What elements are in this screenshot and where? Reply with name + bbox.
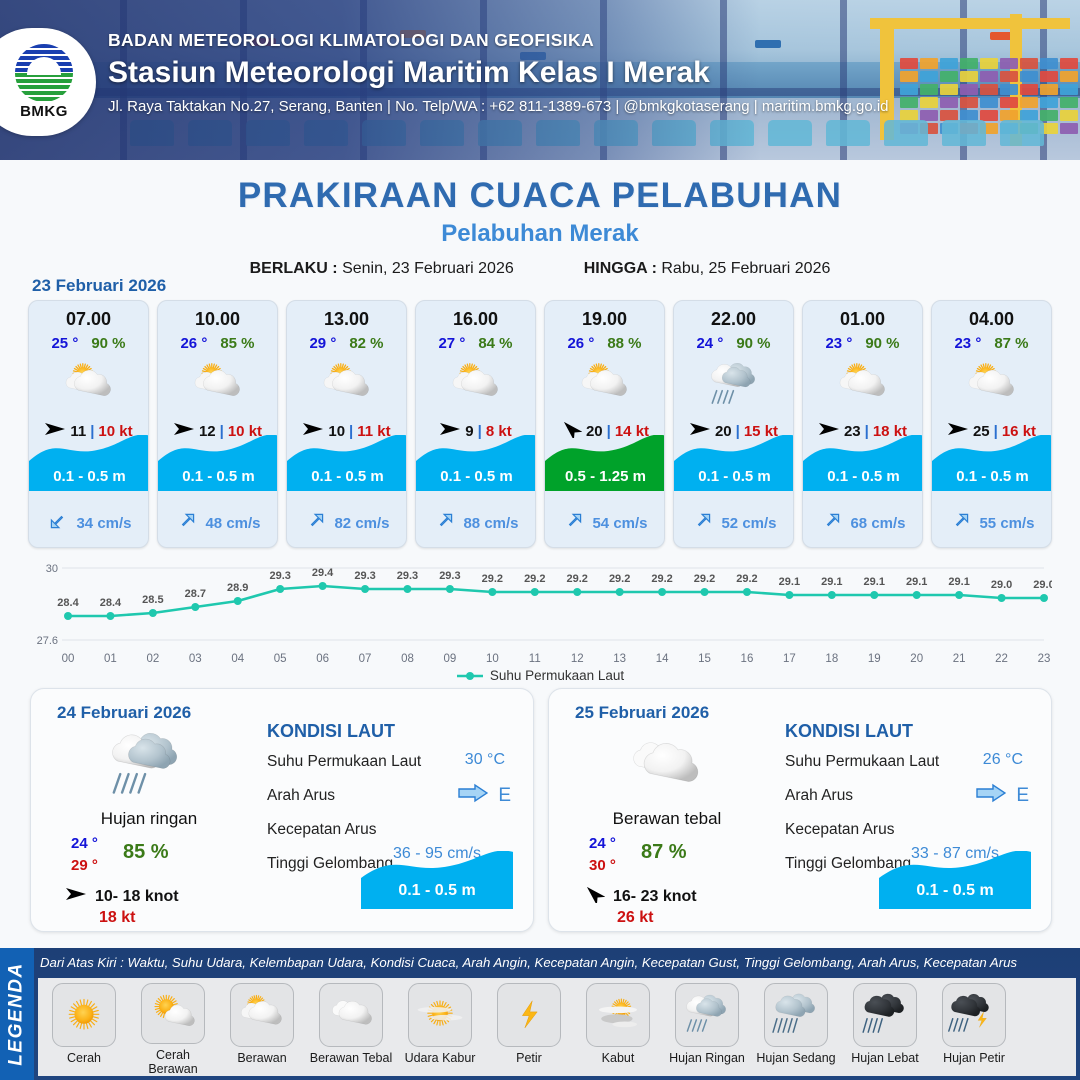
page-header: BMKG BADAN METEOROLOGI KLIMATOLOGI DAN G… <box>0 0 1080 160</box>
current-direction-value: E <box>498 785 511 807</box>
agency-name: BADAN METEOROLOGI KLIMATOLOGI DAN GEOFIS… <box>108 30 889 51</box>
svg-text:29.0: 29.0 <box>1033 579 1052 591</box>
card-temp-humidity-row: 25 °90 % <box>29 335 148 352</box>
svg-text:03: 03 <box>189 653 202 665</box>
header-container-icon <box>1000 97 1018 108</box>
legend-item-label: Cerah Berawan <box>131 1048 215 1076</box>
svg-text:27.6: 27.6 <box>37 635 58 647</box>
legend-side-title: LEGENDA <box>0 948 34 1080</box>
legend-hujan-sedang-icon <box>764 983 828 1047</box>
svg-text:08: 08 <box>401 653 414 665</box>
current-direction-arrow-icon <box>458 783 488 808</box>
svg-text:02: 02 <box>146 653 159 665</box>
day-wind-speed-range: 16- 23 knot <box>613 888 697 906</box>
header-container-icon <box>960 71 978 82</box>
legend-item-label: Udara Kabur <box>405 1051 476 1065</box>
header-container-icon <box>1020 97 1038 108</box>
current-direction-arrow-icon <box>976 783 1006 808</box>
day-wind-row: 10- 18 knot <box>65 885 179 908</box>
svg-text:21: 21 <box>953 653 966 665</box>
header-container-icon <box>940 97 958 108</box>
header-container-icon <box>900 84 918 95</box>
card-current-row: 68 cm/s <box>803 510 923 537</box>
forecast-card[interactable]: 10.0026 °85 %12|10 kt0.1 - 0.5 m48 cm/s <box>157 300 278 548</box>
header-container-icon <box>1060 110 1078 121</box>
sst-label: Suhu Permukaan Laut <box>785 753 939 771</box>
svg-text:30: 30 <box>46 563 58 575</box>
card-temperature: 29 ° <box>309 335 336 352</box>
card-temp-humidity-row: 23 °90 % <box>803 335 922 352</box>
header-container-icon <box>1020 58 1038 69</box>
card-temperature: 23 ° <box>954 335 981 352</box>
header-container-icon <box>1040 97 1058 108</box>
svg-text:16: 16 <box>741 653 754 665</box>
legend-item-label: Petir <box>516 1051 542 1065</box>
card-humidity: 90 % <box>91 335 125 352</box>
header-container-icon <box>1020 71 1038 82</box>
page-subtitle: Pelabuhan Merak <box>0 220 1080 248</box>
legend-item: Berawan <box>220 983 304 1076</box>
header-container-icon <box>960 58 978 69</box>
header-container-icon <box>1000 58 1018 69</box>
svg-text:15: 15 <box>698 653 711 665</box>
current-direction-row: E <box>976 783 1029 808</box>
svg-text:29.1: 29.1 <box>821 576 842 588</box>
legend-hujan-ringan-icon <box>675 983 739 1047</box>
header-container-icon <box>1040 84 1058 95</box>
card-temperature: 26 ° <box>567 335 594 352</box>
card-humidity: 87 % <box>994 335 1028 352</box>
wind-direction-arrow-icon <box>583 885 605 908</box>
day-date: 25 Februari 2026 <box>575 703 709 723</box>
day-temp-max: 30 ° <box>589 857 616 874</box>
current-direction-label: Arah Arus <box>785 787 853 805</box>
legend-item-label: Hujan Petir <box>943 1051 1005 1065</box>
day-wind-speed-range: 10- 18 knot <box>95 888 179 906</box>
header-seat-icon <box>768 120 812 146</box>
card-current-row: 52 cm/s <box>674 510 794 537</box>
card-temperature: 26 ° <box>180 335 207 352</box>
svg-text:29.3: 29.3 <box>354 570 375 582</box>
header-container-icon <box>920 84 938 95</box>
legend-item: Hujan Lebat <box>843 983 927 1076</box>
card-time: 22.00 <box>674 309 793 330</box>
bmkg-logo-emblem <box>15 44 73 102</box>
page-title: PRAKIRAAN CUACA PELABUHAN <box>0 176 1080 216</box>
legend-side-title-text: LEGENDA <box>6 962 28 1065</box>
berlaku-label: BERLAKU : <box>250 260 338 277</box>
hingga-value: Rabu, 25 Februari 2026 <box>661 260 830 277</box>
legend-item: Cerah Berawan <box>131 983 215 1076</box>
forecast-date-label: 23 Februari 2026 <box>32 276 166 296</box>
current-direction-row: E <box>458 783 511 808</box>
header-container-icon <box>980 58 998 69</box>
svg-text:29.1: 29.1 <box>779 576 800 588</box>
card-wave-height: 0.1 - 0.5 m <box>158 435 278 491</box>
day-humidity: 87 % <box>641 841 687 864</box>
card-time: 10.00 <box>158 309 277 330</box>
header-container-icon <box>920 97 938 108</box>
card-weather-icon <box>932 354 1051 416</box>
header-crane-boom <box>870 18 1070 29</box>
svg-text:29.2: 29.2 <box>482 573 503 585</box>
svg-text:01: 01 <box>104 653 117 665</box>
sst-label: Suhu Permukaan Laut <box>267 753 421 771</box>
card-weather-icon <box>803 354 922 416</box>
svg-text:23: 23 <box>1038 653 1051 665</box>
header-container-icon <box>1040 58 1058 69</box>
card-current-speed: 82 cm/s <box>334 515 389 532</box>
card-humidity: 85 % <box>220 335 254 352</box>
header-container-icon <box>980 84 998 95</box>
contact-line: Jl. Raya Taktakan No.27, Serang, Banten … <box>108 98 889 115</box>
card-weather-icon <box>29 354 148 416</box>
daily-forecast-panel[interactable]: 25 Februari 2026Berawan tebal24 °30 °87 … <box>548 688 1052 932</box>
card-wave-height: 0.1 - 0.5 m <box>416 435 536 491</box>
card-current-speed: 54 cm/s <box>592 515 647 532</box>
svg-text:29.1: 29.1 <box>906 576 927 588</box>
day-gust: 18 kt <box>99 909 135 927</box>
svg-text:29.2: 29.2 <box>651 573 672 585</box>
legend-berawan-icon <box>230 983 294 1047</box>
card-current-speed: 68 cm/s <box>850 515 905 532</box>
card-temp-humidity-row: 26 °88 % <box>545 335 664 352</box>
chart-legend: Suhu Permukaan Laut <box>0 668 1080 683</box>
header-container-icon <box>960 97 978 108</box>
day-condition: Berawan tebal <box>549 809 785 829</box>
svg-text:06: 06 <box>316 653 329 665</box>
card-current-row: 54 cm/s <box>545 510 665 537</box>
current-direction-arrow-icon <box>305 510 327 537</box>
svg-text:05: 05 <box>274 653 287 665</box>
card-wave-height: 0.1 - 0.5 m <box>803 435 923 491</box>
svg-text:29.4: 29.4 <box>312 567 334 579</box>
svg-text:29.3: 29.3 <box>269 570 290 582</box>
forecast-card-row: 07.0025 °90 %11|10 kt0.1 - 0.5 m34 cm/s1… <box>28 300 1052 548</box>
legend-item: Udara Kabur <box>398 983 482 1076</box>
legend-item: Hujan Ringan <box>665 983 749 1076</box>
legend-item: Cerah <box>42 983 126 1076</box>
card-temperature: 24 ° <box>696 335 723 352</box>
svg-text:12: 12 <box>571 653 584 665</box>
current-speed-label: Kecepatan Arus <box>785 821 894 839</box>
forecast-card[interactable]: 22.0024 °90 %20|15 kt0.1 - 0.5 m52 cm/s <box>673 300 794 548</box>
card-current-speed: 48 cm/s <box>205 515 260 532</box>
legend-icon-strip: CerahCerah BerawanBerawanBerawan TebalUd… <box>38 978 1076 1076</box>
day-gust: 26 kt <box>617 909 653 927</box>
svg-text:29.1: 29.1 <box>864 576 885 588</box>
current-direction-arrow-icon <box>434 510 456 537</box>
forecast-card[interactable]: 16.0027 °84 %9|8 kt0.1 - 0.5 m88 cm/s <box>415 300 536 548</box>
legend-item: Kabut <box>576 983 660 1076</box>
svg-text:18: 18 <box>825 653 838 665</box>
card-temp-humidity-row: 26 °85 % <box>158 335 277 352</box>
current-direction-arrow-icon <box>176 510 198 537</box>
card-current-speed: 55 cm/s <box>979 515 1034 532</box>
card-current-row: 88 cm/s <box>416 510 536 537</box>
svg-text:29.2: 29.2 <box>736 573 757 585</box>
sea-condition-header: KONDISI LAUT <box>785 721 913 742</box>
legend-item: Hujan Petir <box>932 983 1016 1076</box>
bmkg-logo-text: BMKG <box>14 103 74 120</box>
legend-item-label: Berawan Tebal <box>310 1051 392 1065</box>
legend-item: Petir <box>487 983 571 1076</box>
header-seat-icon <box>826 120 870 146</box>
card-time: 04.00 <box>932 309 1051 330</box>
legend-item-label: Hujan Sedang <box>756 1051 835 1065</box>
card-temperature: 27 ° <box>438 335 465 352</box>
card-humidity: 90 % <box>736 335 770 352</box>
legend-petir-icon <box>497 983 561 1047</box>
day-weather-icon <box>609 727 719 805</box>
legend-item-label: Hujan Lebat <box>851 1051 918 1065</box>
chart-legend-marker-icon <box>456 670 484 682</box>
header-container-icon <box>900 97 918 108</box>
card-current-speed: 52 cm/s <box>721 515 776 532</box>
header-container-icon <box>1040 71 1058 82</box>
header-container-icon <box>1000 84 1018 95</box>
card-time: 16.00 <box>416 309 535 330</box>
legend-item-label: Berawan <box>237 1051 286 1065</box>
sst-value: 30 °C <box>465 751 505 769</box>
day-humidity: 85 % <box>123 841 169 864</box>
svg-text:29.2: 29.2 <box>524 573 545 585</box>
card-time: 07.00 <box>29 309 148 330</box>
card-wave-height: 0.1 - 0.5 m <box>674 435 794 491</box>
wind-direction-arrow-icon <box>65 885 87 908</box>
legend-kabut-icon <box>586 983 650 1047</box>
card-current-row: 34 cm/s <box>29 510 149 537</box>
legend-cerah-icon <box>52 983 116 1047</box>
forecast-card[interactable]: 07.0025 °90 %11|10 kt0.1 - 0.5 m34 cm/s <box>28 300 149 548</box>
header-container-icon <box>1060 58 1078 69</box>
sea-condition-header: KONDISI LAUT <box>267 721 395 742</box>
svg-text:28.4: 28.4 <box>57 597 79 609</box>
card-wave-height: 0.1 - 0.5 m <box>287 435 407 491</box>
legend-cerah-berawan-icon <box>141 983 205 1044</box>
card-humidity: 84 % <box>478 335 512 352</box>
legend-item-label: Cerah <box>67 1051 101 1065</box>
current-direction-arrow-icon <box>821 510 843 537</box>
svg-text:09: 09 <box>444 653 457 665</box>
svg-text:04: 04 <box>231 653 244 665</box>
svg-text:17: 17 <box>783 653 796 665</box>
current-direction-value: E <box>1016 785 1029 807</box>
header-container-icon <box>1040 110 1058 121</box>
day-wave-height: 0.1 - 0.5 m <box>361 851 513 909</box>
svg-text:11: 11 <box>529 653 541 665</box>
legend-section: LEGENDA Dari Atas Kiri : Waktu, Suhu Uda… <box>0 948 1080 1080</box>
svg-text:07: 07 <box>359 653 372 665</box>
legend-udara-kabur-icon <box>408 983 472 1047</box>
card-temp-humidity-row: 23 °87 % <box>932 335 1051 352</box>
station-name: Stasiun Meteorologi Maritim Kelas I Mera… <box>108 56 889 90</box>
card-weather-icon <box>416 354 535 416</box>
svg-text:28.4: 28.4 <box>100 597 122 609</box>
svg-text:00: 00 <box>62 653 75 665</box>
header-container-icon <box>1000 71 1018 82</box>
current-speed-label: Kecepatan Arus <box>267 821 376 839</box>
sst-value: 26 °C <box>983 751 1023 769</box>
header-container-icon <box>900 71 918 82</box>
svg-text:29.3: 29.3 <box>397 570 418 582</box>
daily-forecast-row: 24 Februari 2026Hujan ringan24 °29 °85 %… <box>30 688 1052 932</box>
card-wave-height: 0.1 - 0.5 m <box>932 435 1052 491</box>
header-seat-icon <box>942 120 986 146</box>
card-weather-icon <box>545 354 664 416</box>
day-wave-height: 0.1 - 0.5 m <box>879 851 1031 909</box>
card-humidity: 88 % <box>607 335 641 352</box>
header-container-icon <box>1060 123 1078 134</box>
card-time: 01.00 <box>803 309 922 330</box>
card-temperature: 25 ° <box>51 335 78 352</box>
daily-forecast-panel[interactable]: 24 Februari 2026Hujan ringan24 °29 °85 %… <box>30 688 534 932</box>
svg-text:29.3: 29.3 <box>439 570 460 582</box>
card-time: 19.00 <box>545 309 664 330</box>
svg-text:29.2: 29.2 <box>609 573 630 585</box>
card-time: 13.00 <box>287 309 406 330</box>
header-container-icon <box>980 71 998 82</box>
legend-note: Dari Atas Kiri : Waktu, Suhu Udara, Kele… <box>40 955 1075 970</box>
day-condition: Hujan ringan <box>31 809 267 829</box>
svg-text:10: 10 <box>486 653 499 665</box>
day-wind-row: 16- 23 knot <box>583 885 697 908</box>
header-container-icon <box>1020 84 1038 95</box>
card-weather-icon <box>674 354 793 416</box>
forecast-card[interactable]: 04.0023 °87 %25|16 kt0.1 - 0.5 m55 cm/s <box>931 300 1052 548</box>
svg-text:28.7: 28.7 <box>185 588 206 600</box>
svg-text:22: 22 <box>995 653 1008 665</box>
svg-text:29.2: 29.2 <box>567 573 588 585</box>
legend-item: Hujan Sedang <box>754 983 838 1076</box>
card-temp-humidity-row: 29 °82 % <box>287 335 406 352</box>
card-weather-icon <box>158 354 277 416</box>
header-container-icon <box>900 58 918 69</box>
day-date: 24 Februari 2026 <box>57 703 191 723</box>
svg-text:28.5: 28.5 <box>142 594 163 606</box>
forecast-card[interactable]: 01.0023 °90 %23|18 kt0.1 - 0.5 m68 cm/s <box>802 300 923 548</box>
header-container-icon <box>940 58 958 69</box>
svg-text:20: 20 <box>910 653 923 665</box>
card-current-row: 82 cm/s <box>287 510 407 537</box>
legend-item-label: Hujan Ringan <box>669 1051 745 1065</box>
card-temp-humidity-row: 24 °90 % <box>674 335 793 352</box>
current-direction-label: Arah Arus <box>267 787 335 805</box>
card-temp-humidity-row: 27 °84 % <box>416 335 535 352</box>
current-direction-arrow-icon <box>47 510 69 537</box>
card-humidity: 82 % <box>349 335 383 352</box>
card-current-row: 55 cm/s <box>932 510 1052 537</box>
hingga-label: HINGGA : <box>584 260 657 277</box>
legend-hujan-petir-icon <box>942 983 1006 1047</box>
header-container-icon <box>940 84 958 95</box>
header-container-icon <box>980 97 998 108</box>
header-container-icon <box>1060 84 1078 95</box>
header-container-icon <box>940 71 958 82</box>
header-container-icon <box>1060 71 1078 82</box>
legend-item: Berawan Tebal <box>309 983 393 1076</box>
berlaku-value: Senin, 23 Februari 2026 <box>342 260 514 277</box>
svg-text:13: 13 <box>613 653 626 665</box>
header-seat-icon <box>884 120 928 146</box>
day-temp-min: 24 ° <box>589 835 616 852</box>
svg-text:19: 19 <box>868 653 881 665</box>
card-current-speed: 34 cm/s <box>76 515 131 532</box>
header-container-icon <box>1060 97 1078 108</box>
card-humidity: 90 % <box>865 335 899 352</box>
header-seat-icon <box>1000 120 1044 146</box>
legend-hujan-lebat-icon <box>853 983 917 1047</box>
day-temp-max: 29 ° <box>71 857 98 874</box>
current-direction-arrow-icon <box>563 510 585 537</box>
current-direction-arrow-icon <box>950 510 972 537</box>
svg-text:29.0: 29.0 <box>991 579 1012 591</box>
forecast-card[interactable]: 13.0029 °82 %10|11 kt0.1 - 0.5 m82 cm/s <box>286 300 407 548</box>
legend-berawan-tebal-icon <box>319 983 383 1047</box>
card-weather-icon <box>287 354 406 416</box>
card-wave-height: 0.1 - 0.5 m <box>29 435 149 491</box>
chart-legend-label: Suhu Permukaan Laut <box>490 668 624 683</box>
card-temperature: 23 ° <box>825 335 852 352</box>
card-current-row: 48 cm/s <box>158 510 278 537</box>
current-direction-arrow-icon <box>692 510 714 537</box>
card-wave-height: 0.5 - 1.25 m <box>545 435 665 491</box>
forecast-card[interactable]: 19.0026 °88 %20|14 kt0.5 - 1.25 m54 cm/s <box>544 300 665 548</box>
header-container-icon <box>920 71 938 82</box>
svg-text:14: 14 <box>656 653 669 665</box>
svg-text:29.2: 29.2 <box>694 573 715 585</box>
card-current-speed: 88 cm/s <box>463 515 518 532</box>
legend-item-label: Kabut <box>602 1051 635 1065</box>
header-container-icon <box>960 84 978 95</box>
svg-text:28.9: 28.9 <box>227 582 248 594</box>
header-container-icon <box>920 58 938 69</box>
day-temp-min: 24 ° <box>71 835 98 852</box>
day-weather-icon <box>91 727 201 805</box>
sst-chart: 3027.628.40028.40128.50228.70328.90429.3… <box>30 560 1052 670</box>
svg-text:29.1: 29.1 <box>948 576 969 588</box>
